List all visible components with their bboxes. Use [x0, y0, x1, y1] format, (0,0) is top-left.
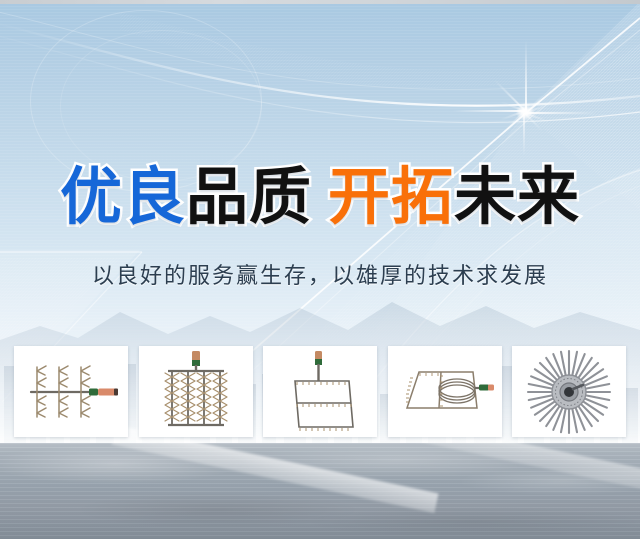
promo-banner: 优良品质开拓未来 以良好的服务赢生存，以雄厚的技术求发展 [0, 0, 640, 539]
headline: 优良品质开拓未来 [0, 166, 640, 228]
product-coil-frame-icon [395, 356, 495, 428]
product-frame-panel-icon [279, 351, 361, 433]
product-card[interactable] [139, 346, 253, 437]
top-edge-strip [0, 0, 640, 4]
ground-pavement [0, 443, 640, 539]
product-spike-wheel-icon [526, 349, 612, 435]
product-thumbnail-strip [14, 346, 626, 437]
product-anchor-rake-icon [19, 353, 123, 431]
headline-segment-3: 开拓 [328, 160, 454, 233]
headline-segment-1: 优良 [60, 160, 186, 233]
product-card[interactable] [512, 346, 626, 437]
headline-segment-2: 品质 [186, 160, 312, 233]
subtitle: 以良好的服务赢生存，以雄厚的技术求发展 [0, 258, 640, 290]
product-spike-roller-icon [154, 351, 238, 433]
product-card[interactable] [14, 346, 128, 437]
product-card[interactable] [263, 346, 377, 437]
product-card[interactable] [388, 346, 502, 437]
headline-segment-4: 未来 [454, 160, 580, 233]
